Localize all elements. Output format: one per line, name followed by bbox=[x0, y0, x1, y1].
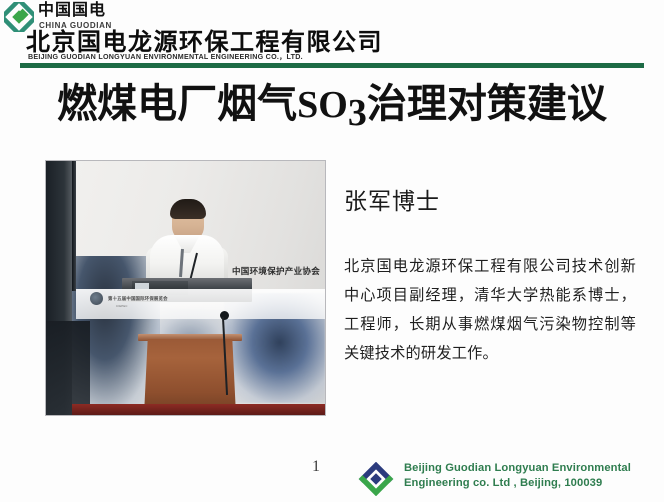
title-part-after: 治理对策建议 bbox=[367, 81, 607, 127]
footer-line-2: Engineering co. Ltd , Beijing, 100039 bbox=[404, 476, 656, 491]
company-name-en: BEIJING GUODIAN LONGYUAN ENVIRONMENTAL E… bbox=[28, 54, 303, 62]
photo-screen-edge bbox=[72, 161, 76, 291]
title-part-before: 燃煤电厂烟气 bbox=[57, 81, 297, 127]
footer-company-address: Beijing Guodian Longyuan Environmental E… bbox=[404, 461, 656, 491]
title-formula-subscript: 3 bbox=[348, 92, 367, 134]
header-divider bbox=[20, 63, 644, 68]
guodian-logo-icon bbox=[4, 2, 34, 32]
speaker-photo: 中国环境保护产业协会 第十五届中国国际环保展览会 CIEPEC bbox=[46, 161, 325, 415]
slide-footer: Beijing Guodian Longyuan Environmental E… bbox=[356, 458, 656, 498]
speaker-name: 张军博士 bbox=[344, 182, 440, 216]
photo-banner-text: 中国环境保护产业协会 bbox=[232, 265, 320, 277]
parent-brand-name-cn: 中国国电 bbox=[38, 2, 106, 20]
speaker-biography: 北京国电龙源环保工程有限公司技术创新中心项目副经理，清华大学热能系博士，工程师，… bbox=[344, 252, 636, 368]
company-name-cn: 北京国电龙源环保工程有限公司 bbox=[26, 30, 383, 56]
photo-banner-subtext-en: CIEPEC bbox=[116, 304, 128, 308]
photo-banner-strip bbox=[76, 289, 325, 319]
photo-banner-subtext: 第十五届中国国际环保展览会 bbox=[108, 296, 168, 302]
page-number: 1 bbox=[312, 458, 320, 476]
photo-banner-emblem-icon bbox=[90, 292, 103, 305]
slide-header: 中国国电 CHINA GUODIAN 北京国电龙源环保工程有限公司 BEIJIN… bbox=[0, 0, 664, 70]
page-title: 燃煤电厂烟气SO3治理对策建议 bbox=[0, 78, 664, 131]
guodian-longyuan-logo-icon bbox=[356, 462, 396, 496]
photo-speaker-hair bbox=[170, 199, 206, 219]
title-formula-main: SO bbox=[297, 84, 348, 126]
photo-red-carpet bbox=[72, 404, 325, 415]
footer-line-1: Beijing Guodian Longyuan Environmental bbox=[404, 461, 656, 476]
photo-lower-left-shadow bbox=[46, 321, 90, 415]
